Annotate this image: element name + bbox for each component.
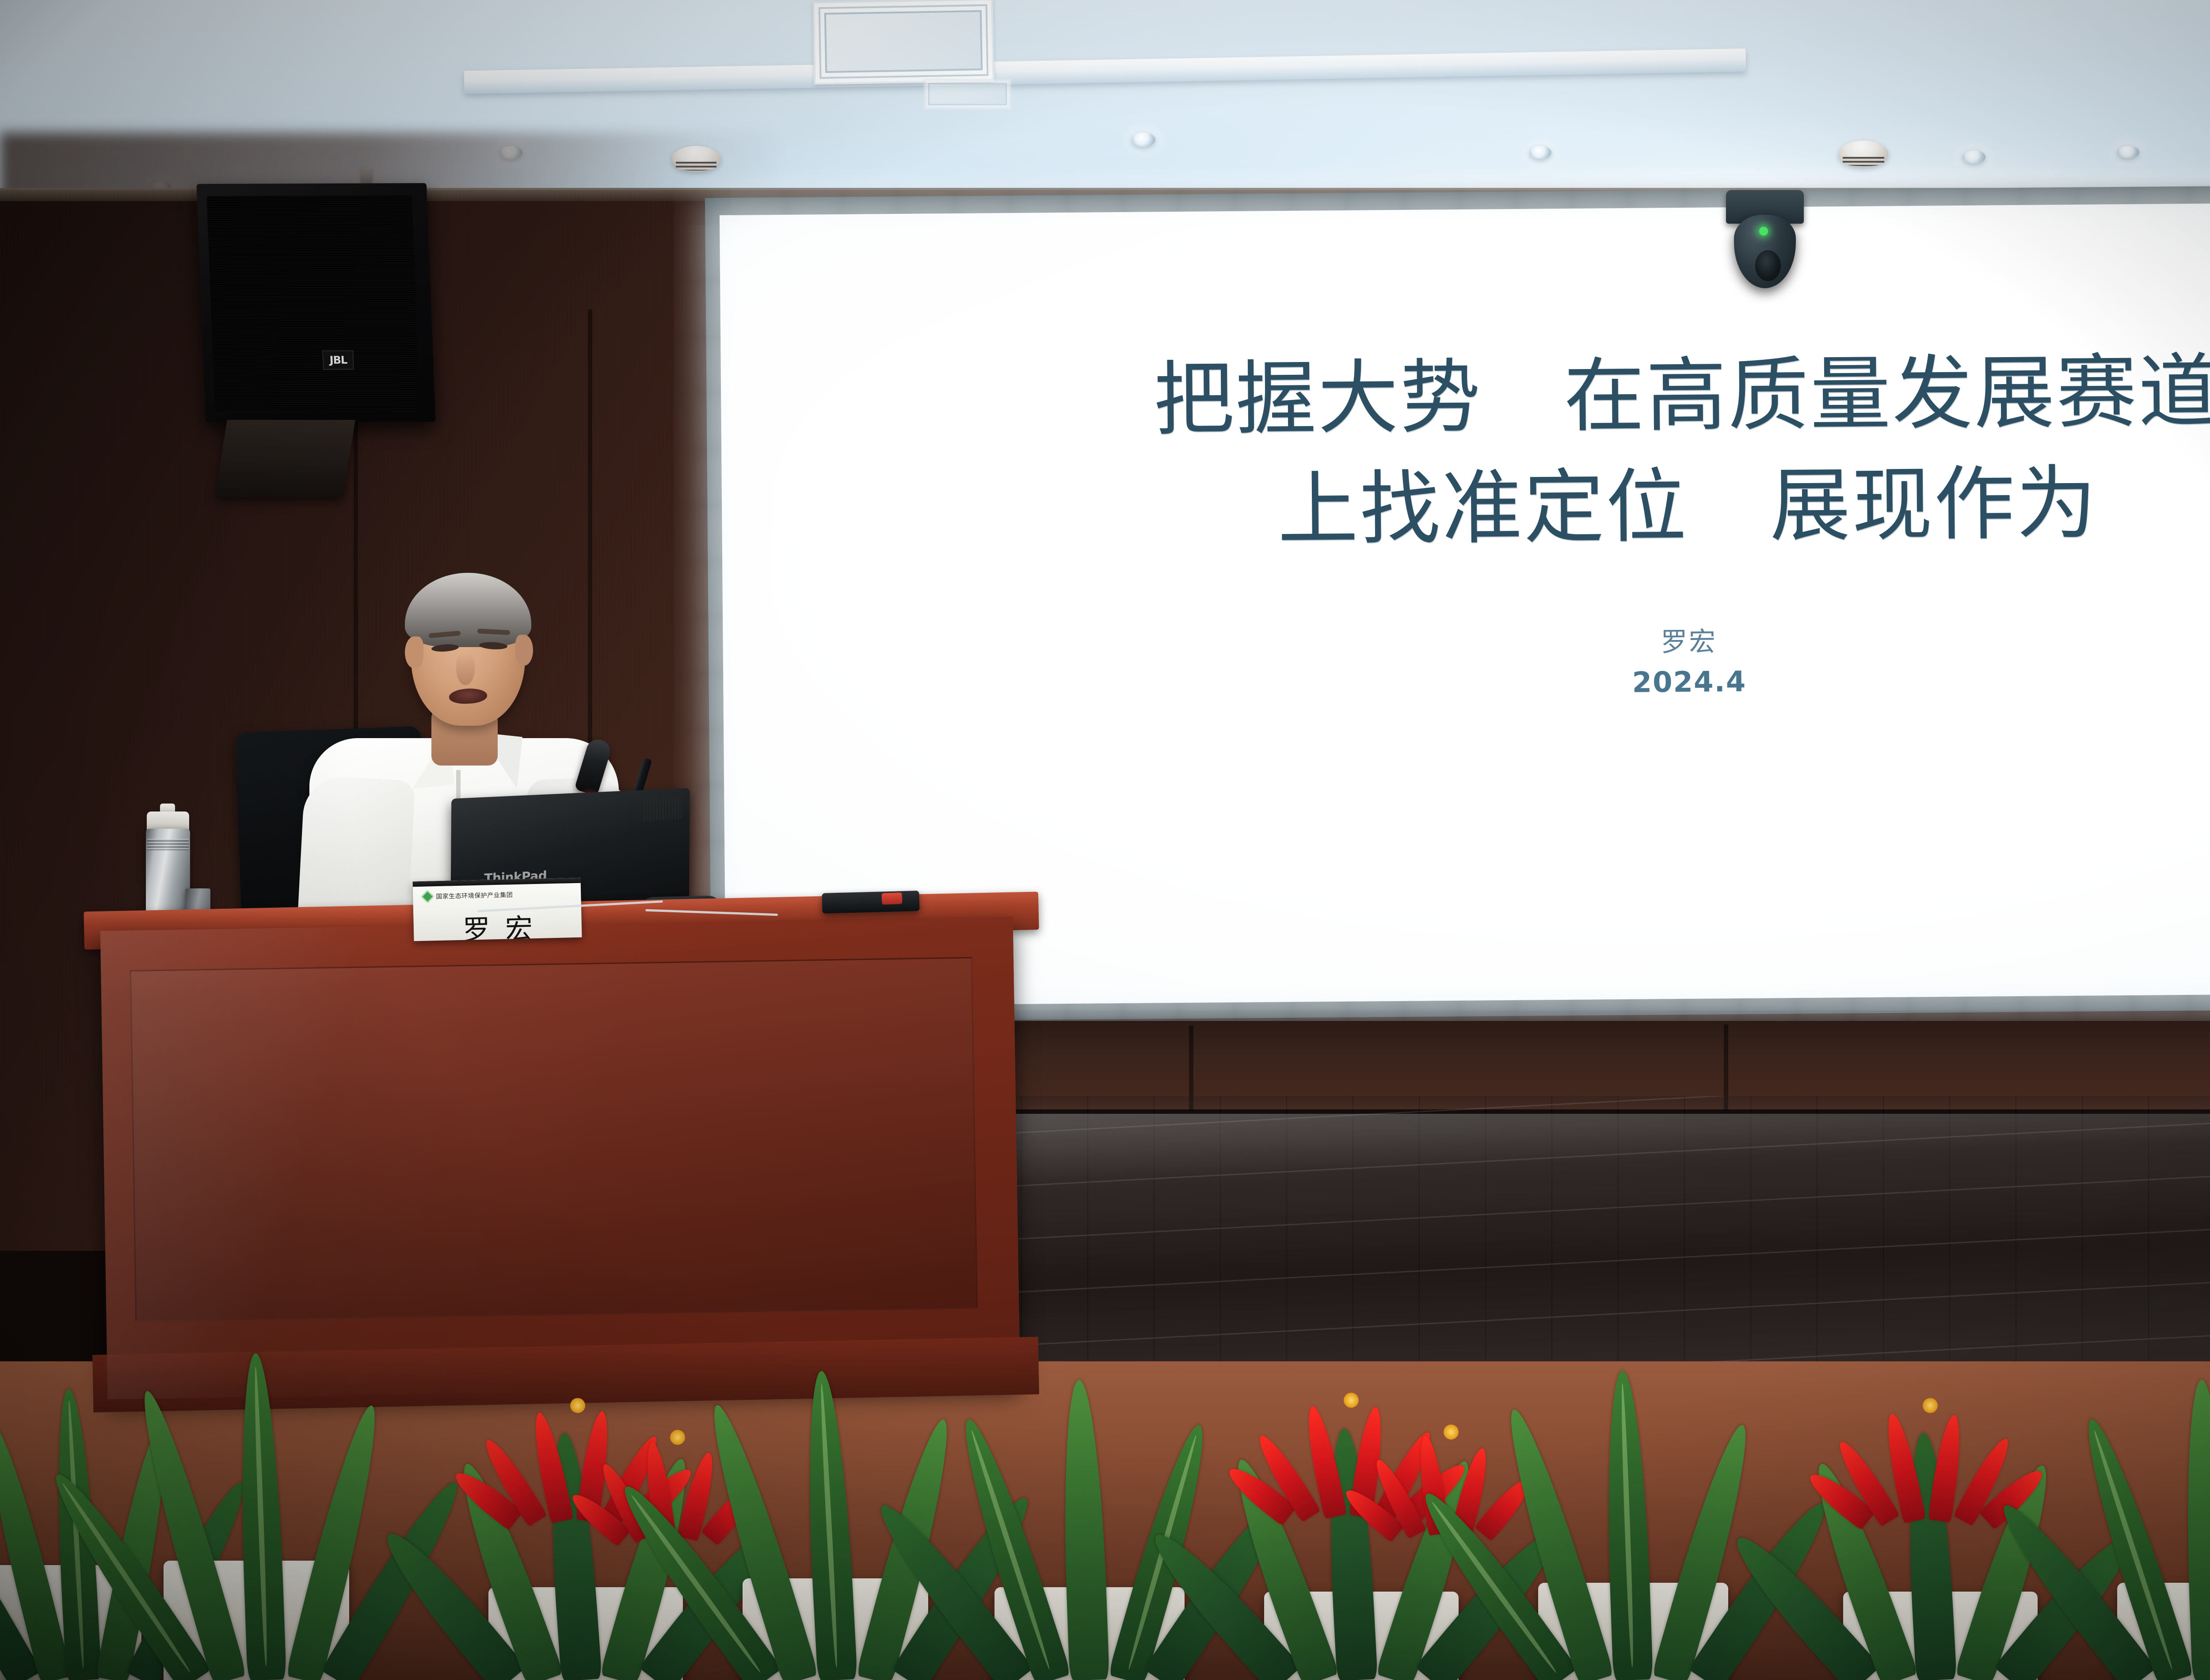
jbl-logo: JBL — [323, 350, 354, 370]
speaker-grille — [207, 195, 420, 411]
flower-core — [670, 1430, 685, 1445]
nose — [456, 652, 475, 685]
ceiling-air-vent-secondary — [924, 79, 1011, 110]
laptop-asset-sticker — [644, 796, 682, 821]
presenter-clicker[interactable] — [882, 892, 903, 905]
conference-hall-scene: JBL 把握大势 在高质量发展赛道 上找准定位 展现作为 罗宏 2024.4 — [0, 0, 2210, 1680]
slide-date: 2024.4 — [1632, 666, 1746, 699]
thermos-rings — [147, 839, 189, 850]
ceiling-downlight — [1962, 150, 1985, 164]
nameplate-organization: 国家生态环境保护产业集团 — [436, 890, 513, 901]
slide-title-line-2: 上找准定位 展现作为 — [1277, 448, 2099, 566]
foreground-plants — [0, 1194, 2210, 1680]
smoke-detector-icon — [1839, 141, 1888, 167]
nameplate-logo-row: 国家生态环境保护产业集团 — [423, 890, 513, 902]
ceiling-downlight — [1132, 133, 1155, 147]
ceiling-air-vent — [812, 0, 994, 85]
ceiling-downlight — [2117, 146, 2139, 158]
ear-left — [405, 636, 423, 668]
camera-lens — [1755, 250, 1781, 281]
flower-core — [1923, 1398, 1938, 1413]
projection-screen[interactable]: 把握大势 在高质量发展赛道 上找准定位 展现作为 罗宏 2024.4 — [720, 200, 2210, 1006]
camera-status-led — [1759, 227, 1768, 236]
bromeliad-flower — [1852, 1375, 2038, 1521]
flower-core — [570, 1398, 585, 1413]
flower-core — [1344, 1393, 1359, 1408]
presentation-slide: 把握大势 在高质量发展赛道 上找准定位 展现作为 罗宏 2024.4 — [720, 200, 2210, 1006]
slide-author: 罗宏 — [1661, 621, 1717, 659]
organization-logo-icon — [421, 890, 434, 903]
jbl-loudspeaker: JBL — [196, 183, 435, 422]
slide-title-line-1: 把握大势 在高质量发展赛道 — [1153, 336, 2210, 455]
ceiling-downlight — [1529, 146, 1551, 159]
flower-core — [1444, 1425, 1459, 1440]
ear-right — [515, 635, 533, 666]
hair — [405, 573, 531, 647]
desk-device-remote[interactable] — [822, 891, 919, 914]
slide-meta: 罗宏 2024.4 — [1632, 620, 1747, 699]
speaker-mount-bracket — [215, 420, 355, 497]
